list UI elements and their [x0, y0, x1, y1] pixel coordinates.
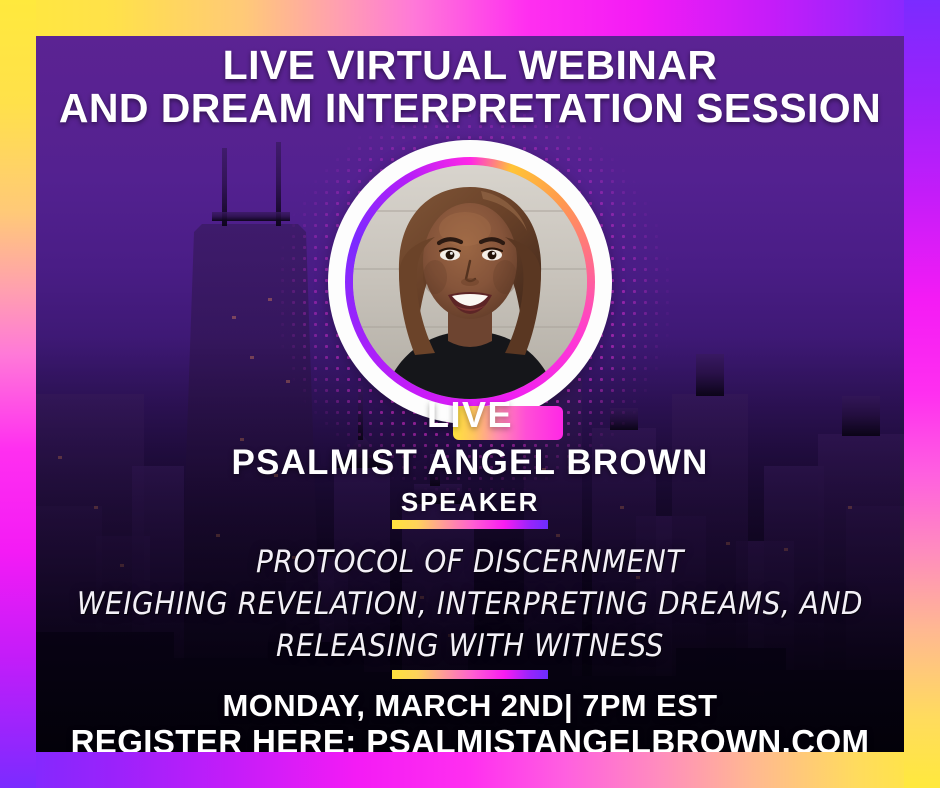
- speaker-name: PSALMIST ANGEL BROWN: [36, 444, 904, 483]
- avatar: [353, 165, 587, 399]
- speaker-block: PSALMIST ANGEL BROWN SPEAKER: [36, 444, 904, 518]
- headline-line-1: LIVE VIRTUAL WEBINAR: [36, 44, 904, 87]
- live-badge-label: LIVE: [328, 394, 612, 436]
- topic-line-1: PROTOCOL OF DISCERNMENT: [36, 542, 904, 584]
- page-title: LIVE VIRTUAL WEBINAR AND DREAM INTERPRET…: [36, 44, 904, 129]
- topic-line-3: RELEASING WITH WITNESS: [36, 626, 904, 668]
- event-date-time: MONDAY, MARCH 2ND| 7PM EST: [36, 688, 904, 723]
- divider-bar-bottom: [392, 670, 548, 679]
- flyer-stage: LIVE VIRTUAL WEBINAR AND DREAM INTERPRET…: [36, 36, 904, 752]
- register-url[interactable]: REGISTER HERE: PSALMISTANGELBROWN.COM: [36, 723, 904, 752]
- divider-bar-top: [392, 520, 548, 529]
- speaker-photo-circle: [328, 140, 612, 424]
- topic-block: PROTOCOL OF DISCERNMENT WEIGHING REVELAT…: [36, 542, 904, 668]
- topic-line-2: WEIGHING REVELATION, INTERPRETING DREAMS…: [36, 584, 904, 626]
- frame-border-bottom: [0, 752, 940, 788]
- speaker-role: SPEAKER: [36, 487, 904, 518]
- webinar-flyer: LIVE VIRTUAL WEBINAR AND DREAM INTERPRET…: [0, 0, 940, 788]
- frame-border-top: [0, 0, 940, 36]
- footer-block: MONDAY, MARCH 2ND| 7PM EST REGISTER HERE…: [36, 688, 904, 752]
- frame-border-left: [0, 0, 36, 788]
- frame-border-right: [904, 0, 940, 788]
- headline-line-2: AND DREAM INTERPRETATION SESSION: [36, 87, 904, 130]
